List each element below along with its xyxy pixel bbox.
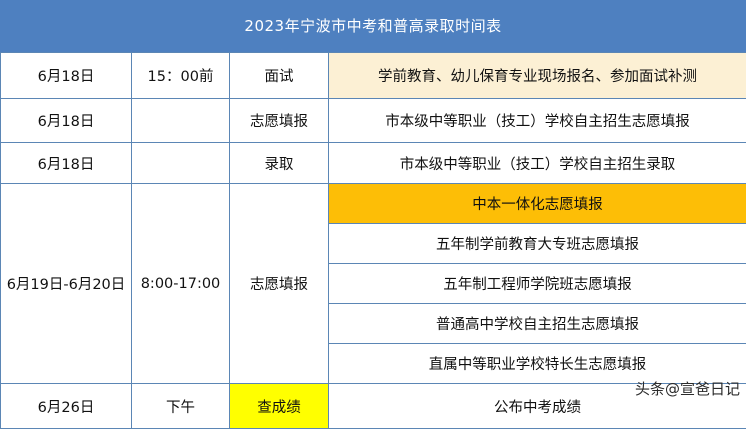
table-row: 6月19日-6月20日 8:00-17:00 志愿填报 中本一体化志愿填报 <box>1 184 746 224</box>
cell-detail: 学前教育、幼儿保育专业现场报名、参加面试补测 <box>329 53 746 99</box>
cell-time: 15：00前 <box>132 53 230 99</box>
cell-type: 面试 <box>230 53 329 99</box>
cell-detail: 五年制工程师学院班志愿填报 <box>329 264 746 304</box>
page-title: 2023年宁波市中考和普高录取时间表 <box>244 19 501 34</box>
cell-detail: 市本级中等职业（技工）学校自主招生录取 <box>329 143 746 184</box>
cell-type: 录取 <box>230 143 329 184</box>
cell-time <box>132 143 230 184</box>
cell-detail: 五年制学前教育大专班志愿填报 <box>329 224 746 264</box>
cell-detail: 公布中考成绩 <box>329 384 746 429</box>
cell-type: 志愿填报 <box>230 184 329 384</box>
cell-detail: 普通高中学校自主招生志愿填报 <box>329 304 746 344</box>
cell-date: 6月26日 <box>1 384 132 429</box>
cell-date: 6月18日 <box>1 143 132 184</box>
table-row: 6月18日 15：00前 面试 学前教育、幼儿保育专业现场报名、参加面试补测 <box>1 53 746 99</box>
cell-time <box>132 99 230 143</box>
cell-date: 6月18日 <box>1 99 132 143</box>
cell-detail: 中本一体化志愿填报 <box>329 184 746 224</box>
cell-time: 8:00-17:00 <box>132 184 230 384</box>
cell-time: 下午 <box>132 384 230 429</box>
cell-detail: 直属中等职业学校特长生志愿填报 <box>329 344 746 384</box>
cell-type: 查成绩 <box>230 384 329 429</box>
cell-detail: 市本级中等职业（技工）学校自主招生志愿填报 <box>329 99 746 143</box>
cell-type: 志愿填报 <box>230 99 329 143</box>
cell-date: 6月19日-6月20日 <box>1 184 132 384</box>
table-row: 6月18日 志愿填报 市本级中等职业（技工）学校自主招生志愿填报 <box>1 99 746 143</box>
cell-date: 6月18日 <box>1 53 132 99</box>
table-row: 6月26日 下午 查成绩 公布中考成绩 <box>1 384 746 429</box>
exam-schedule-table-image: 2023年宁波市中考和普高录取时间表 6月18日 15：00前 面试 学前教育、… <box>0 0 746 419</box>
table-title-bar: 2023年宁波市中考和普高录取时间表 <box>0 0 746 52</box>
schedule-table: 6月18日 15：00前 面试 学前教育、幼儿保育专业现场报名、参加面试补测 6… <box>0 52 746 429</box>
table-row: 6月18日 录取 市本级中等职业（技工）学校自主招生录取 <box>1 143 746 184</box>
